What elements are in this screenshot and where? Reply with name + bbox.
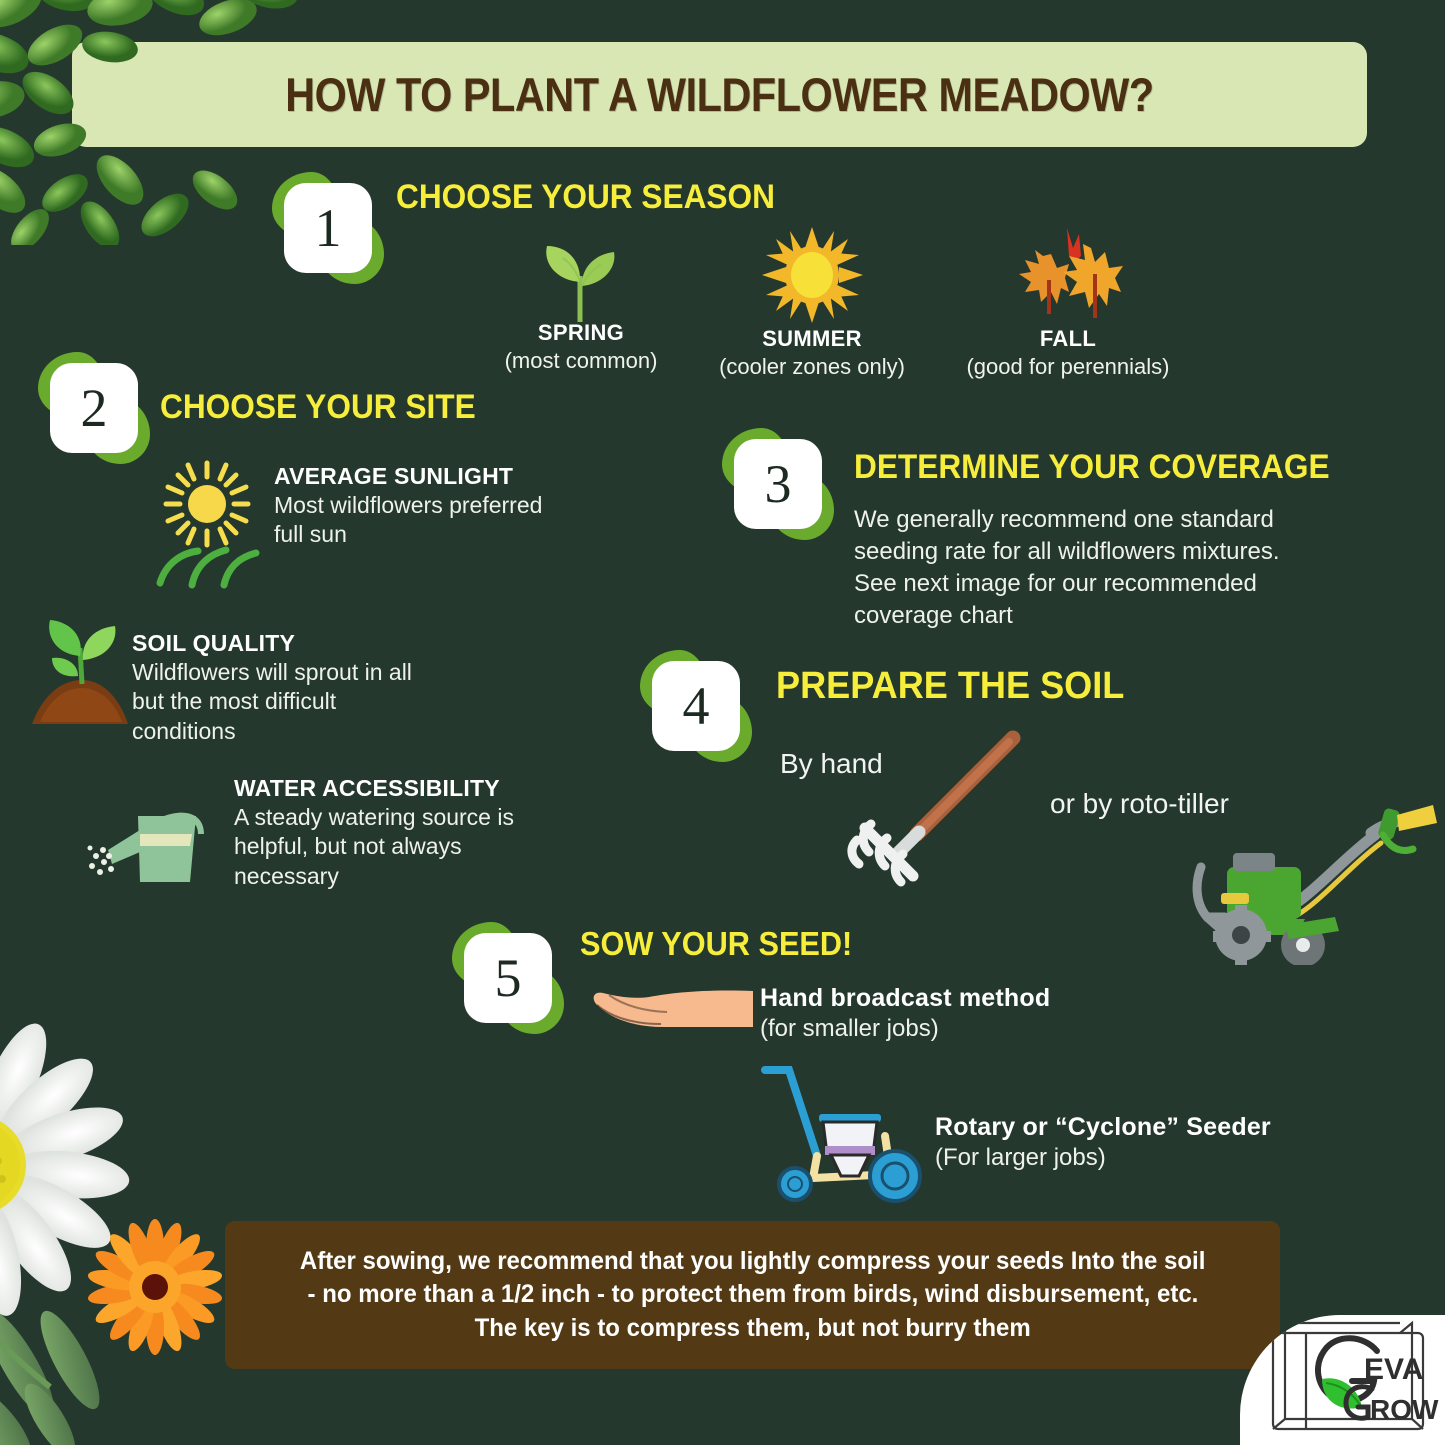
step-badge-2: 2 [38, 352, 150, 464]
sun-over-field-icon [152, 455, 262, 590]
season-name: FALL [943, 326, 1193, 352]
step-number: 3 [765, 457, 792, 511]
step-number: 1 [315, 201, 342, 255]
badge-chip: 5 [464, 933, 552, 1023]
step-3-heading: DETERMINE YOUR COVERAGE [854, 448, 1330, 487]
maple-leaves-icon [1005, 222, 1130, 322]
season-fall: FALL (good for perennials) [943, 326, 1193, 380]
footer-note-line-3: The key is to compress them, but not bur… [474, 1312, 1030, 1345]
step-badge-4: 4 [640, 650, 752, 762]
season-note: (cooler zones only) [687, 354, 937, 380]
season-name: SUMMER [687, 326, 937, 352]
step-number: 2 [81, 381, 108, 435]
infographic-canvas: HOW TO PLANT A WILDFLOWER MEADOW? [0, 0, 1445, 1445]
method-note: (For larger jobs) [935, 1143, 1355, 1174]
item-title: AVERAGE SUNLIGHT [274, 463, 674, 490]
site-item-water: WATER ACCESSIBILITY A steady watering so… [234, 775, 664, 891]
season-summer: SUMMER (cooler zones only) [687, 326, 937, 380]
watering-can-icon [78, 790, 228, 895]
step-badge-1: 1 [272, 172, 384, 284]
step-3-desc: We generally recommend one standard seed… [854, 504, 1384, 632]
step-1-heading: CHOOSE YOUR SEASON [396, 178, 775, 217]
step-3-body: We generally recommend one standard seed… [854, 503, 1384, 632]
step-4-heading: PREPARE THE SOIL [776, 665, 1124, 708]
site-item-soil: SOIL QUALITY Wildflowers will sprout in … [132, 630, 552, 746]
title-banner: HOW TO PLANT A WILDFLOWER MEADOW? [72, 42, 1367, 147]
season-name: SPRING [456, 320, 706, 346]
logo-word-top: EVA [1364, 1353, 1423, 1386]
item-title: SOIL QUALITY [132, 630, 552, 657]
badge-chip: 3 [734, 439, 822, 529]
item-desc: Most wildflowers preferred full sun [274, 491, 674, 550]
step-number: 5 [495, 951, 522, 1005]
step-4-method-roto-tiller: or by roto-tiller [1050, 788, 1229, 820]
sun-icon [760, 225, 865, 325]
sow-method-rotary: Rotary or “Cyclone” Seeder (For larger j… [935, 1113, 1355, 1174]
badge-chip: 4 [652, 661, 740, 751]
footer-note-line-2: - no more than a 1/2 inch - to protect t… [307, 1278, 1198, 1311]
open-hand-icon [585, 975, 760, 1045]
method-title: Hand broadcast method [760, 984, 1180, 1013]
season-note: (most common) [456, 348, 706, 374]
logo-word-bottom: ROW [1370, 1394, 1439, 1425]
badge-chip: 2 [50, 363, 138, 453]
step-2-heading: CHOOSE YOUR SITE [160, 388, 476, 427]
method-note: (for smaller jobs) [760, 1014, 1180, 1045]
sprout-in-soil-icon [22, 612, 140, 730]
rotary-seeder-icon [755, 1060, 945, 1205]
step-4-method-by-hand: By hand [780, 748, 883, 780]
site-item-sunlight: AVERAGE SUNLIGHT Most wildflowers prefer… [274, 463, 674, 550]
footer-note-banner: After sowing, we recommend that you ligh… [225, 1221, 1280, 1369]
footer-note-line-1: After sowing, we recommend that you ligh… [300, 1245, 1206, 1278]
step-number: 4 [683, 679, 710, 733]
season-spring: SPRING (most common) [456, 320, 706, 374]
item-title: WATER ACCESSIBILITY [234, 775, 664, 802]
method-title: Rotary or “Cyclone” Seeder [935, 1113, 1355, 1142]
item-desc: A steady watering source is helpful, but… [234, 803, 664, 891]
step-5-heading: SOW YOUR SEED! [580, 925, 852, 963]
step-badge-5: 5 [452, 922, 564, 1034]
badge-chip: 1 [284, 183, 372, 273]
item-desc: Wildflowers will sprout in all but the m… [132, 658, 552, 746]
sow-method-hand: Hand broadcast method (for smaller jobs) [760, 984, 1180, 1045]
seedling-icon [525, 230, 635, 325]
step-badge-3: 3 [722, 428, 834, 540]
season-note: (good for perennials) [943, 354, 1193, 380]
page-title: HOW TO PLANT A WILDFLOWER MEADOW? [285, 67, 1153, 122]
